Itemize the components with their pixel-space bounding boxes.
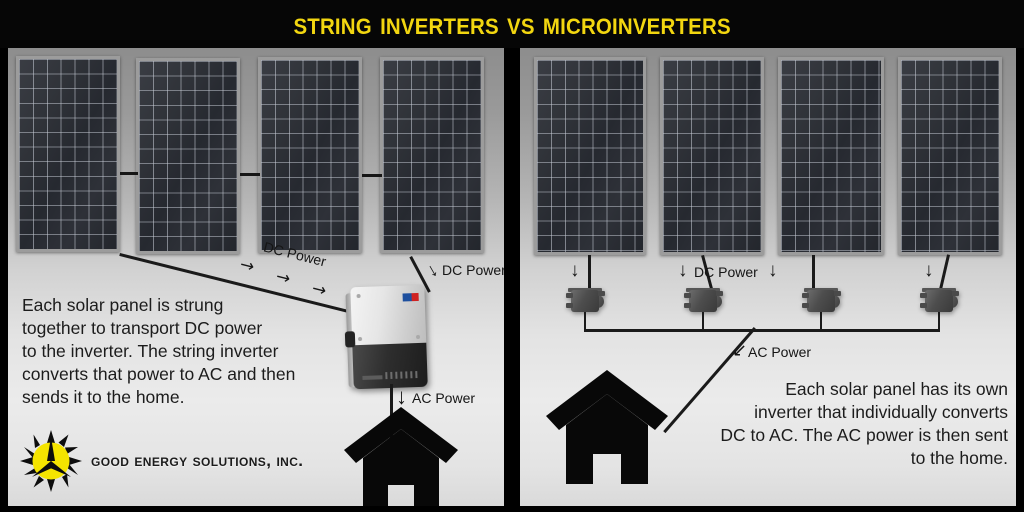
right-description-text: Each solar panel has its own inverter th… — [670, 378, 1008, 470]
microinverter-tab — [566, 303, 573, 308]
company-logo: Good Energy Solutions, Inc. — [20, 430, 303, 492]
microinverter-tab — [834, 291, 841, 296]
microinverter-tab — [566, 293, 573, 298]
inverter-brand-logo — [403, 293, 419, 302]
microinverter-body — [689, 290, 717, 312]
house-icon — [342, 403, 460, 512]
panel-link-wire — [362, 174, 382, 177]
ac-bus-trunk — [584, 329, 940, 332]
label-ac-power: AC Power — [748, 344, 811, 360]
company-name: Good Energy Solutions, Inc. — [91, 451, 303, 471]
sun-starburst-icon — [20, 430, 82, 492]
frame-edge-bottom — [0, 506, 1024, 512]
dc-arrow-panel: ↓ — [768, 260, 778, 282]
inverter-dc-switch — [345, 331, 356, 347]
panel-cells — [139, 61, 237, 251]
microinverter-tab — [920, 303, 927, 308]
microinverter-device — [920, 288, 960, 314]
label-dc-power: DC Power — [694, 264, 758, 280]
solar-panel — [136, 58, 240, 254]
panel-link-wire — [240, 173, 260, 176]
microinverter-tab — [716, 291, 723, 296]
frame-edge-left — [0, 48, 8, 512]
microinverter-tab — [684, 293, 691, 298]
microinverter-body — [571, 290, 599, 312]
label-dc-power-inverter: DC Power — [442, 262, 504, 278]
label-ac-power-arrow: ↙ — [732, 340, 747, 361]
title-bar: String Inverters vs Microinverters — [0, 0, 1024, 48]
panel-cells — [261, 60, 359, 250]
solar-panel — [16, 56, 120, 252]
center-divider — [508, 48, 516, 512]
panel-cells — [19, 59, 117, 249]
microinverter-tab — [952, 291, 959, 296]
panel-cells — [901, 60, 999, 252]
solar-panel — [258, 57, 362, 253]
microinverter-body — [807, 290, 835, 312]
inverter-lower-housing — [352, 343, 427, 390]
microinverter-device — [566, 288, 606, 314]
inverter-brand-text — [362, 375, 382, 380]
microinverter-tab — [802, 303, 809, 308]
left-description-text: Each solar panel is strung together to t… — [22, 294, 342, 409]
solar-panel — [380, 57, 484, 253]
dc-arrow-panel: ↓ — [678, 260, 688, 282]
panel-cells — [663, 60, 761, 252]
inverter-screw — [416, 335, 420, 339]
dc-flow-arrow: → — [238, 255, 257, 278]
microinverter-body — [925, 290, 953, 312]
inverter-vents — [385, 371, 419, 379]
label-dc-power-inverter-arrow: ↓ — [423, 259, 442, 283]
inverter-screw — [357, 294, 361, 298]
infographic-root: String Inverters vs Microinverters — [0, 0, 1024, 512]
panel-cells — [781, 60, 881, 252]
page-title: String Inverters vs Microinverters — [293, 6, 730, 42]
panel-cells — [383, 60, 481, 250]
microinverter-tab — [684, 303, 691, 308]
dc-flow-arrow: → — [274, 267, 293, 290]
microinverter-tab — [598, 291, 605, 296]
microinverter-device — [684, 288, 724, 314]
panel-cells — [537, 60, 643, 252]
dc-arrow-panel: ↓ — [570, 260, 580, 282]
frame-edge-right — [1016, 48, 1024, 512]
solar-panel — [898, 57, 1002, 255]
panel-link-wire — [120, 172, 138, 175]
string-inverter-device — [350, 285, 427, 388]
micro-ac-stub — [702, 312, 704, 330]
micro-ac-stub — [820, 312, 822, 330]
micro-ac-stub — [938, 312, 940, 330]
house-icon — [544, 366, 670, 484]
dc-arrow-panel: ↓ — [924, 260, 934, 282]
inverter-upper-housing — [350, 285, 426, 348]
microinverter-tab — [802, 293, 809, 298]
solar-panel — [534, 57, 646, 255]
solar-panel — [660, 57, 764, 255]
microinverter-tab — [920, 293, 927, 298]
left-panel-string-inverter: → → → DC Power ↓ DC Power — [8, 48, 504, 512]
micro-ac-stub — [584, 312, 586, 330]
solar-panel — [778, 57, 884, 255]
right-panel-microinverter: ↓ ↓ DC Power ↓ ↓ — [520, 48, 1016, 512]
inverter-screw — [358, 337, 362, 341]
microinverter-device — [802, 288, 842, 314]
